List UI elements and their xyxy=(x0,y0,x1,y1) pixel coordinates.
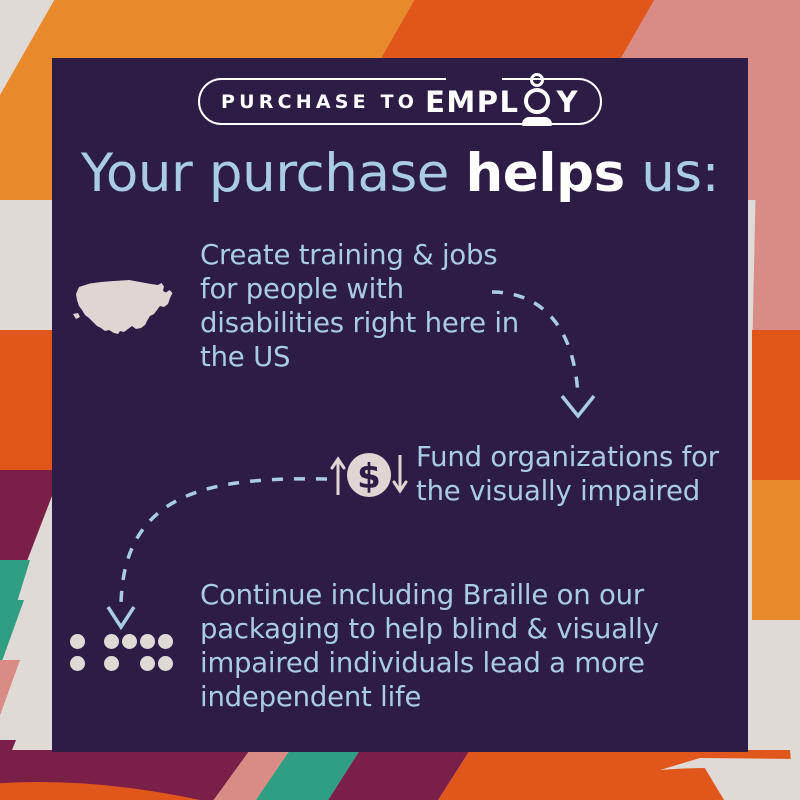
page-title: Your purchase helps us: xyxy=(52,143,748,204)
benefit-text-fund-orgs: Fund organizations for the visually impa… xyxy=(416,440,736,508)
braille-dot xyxy=(70,656,85,671)
person-base xyxy=(522,117,552,126)
braille-dot xyxy=(104,634,119,649)
braille-dot xyxy=(158,634,173,649)
logo-big-text-after: Y xyxy=(557,85,580,119)
logo-text: PURCHASE TO EMPLY xyxy=(198,78,602,125)
headline-emphasis: helps xyxy=(465,143,624,204)
braille-dot xyxy=(140,634,155,649)
braille-dot xyxy=(140,656,155,671)
us-map-icon xyxy=(70,270,178,342)
braille-dot xyxy=(70,634,85,649)
headline-part2: us: xyxy=(625,143,719,204)
poster-canvas: PURCHASE TO EMPLY Your purchase helps us… xyxy=(0,0,800,800)
braille-dot xyxy=(122,634,137,649)
benefit-text-us-jobs: Create training & jobs for people with d… xyxy=(200,238,530,374)
braille-dot xyxy=(104,656,119,671)
person-o-icon xyxy=(521,87,554,116)
logo-small-text: PURCHASE TO xyxy=(221,91,418,113)
coin-svg: $ xyxy=(328,447,410,503)
dollar-coin-icon: $ xyxy=(328,447,410,503)
person-body-ring xyxy=(524,88,550,114)
benefit-text-braille: Continue including Braille on our packag… xyxy=(200,578,660,714)
braille-dots-icon xyxy=(66,630,174,674)
logo-big-text-before: EMPL xyxy=(425,85,519,119)
svg-text:$: $ xyxy=(357,457,381,497)
headline-part1: Your purchase xyxy=(81,143,466,204)
person-head xyxy=(530,73,544,87)
us-map-svg xyxy=(70,270,178,342)
brand-logo: PURCHASE TO EMPLY xyxy=(198,78,602,125)
braille-dot xyxy=(158,656,173,671)
